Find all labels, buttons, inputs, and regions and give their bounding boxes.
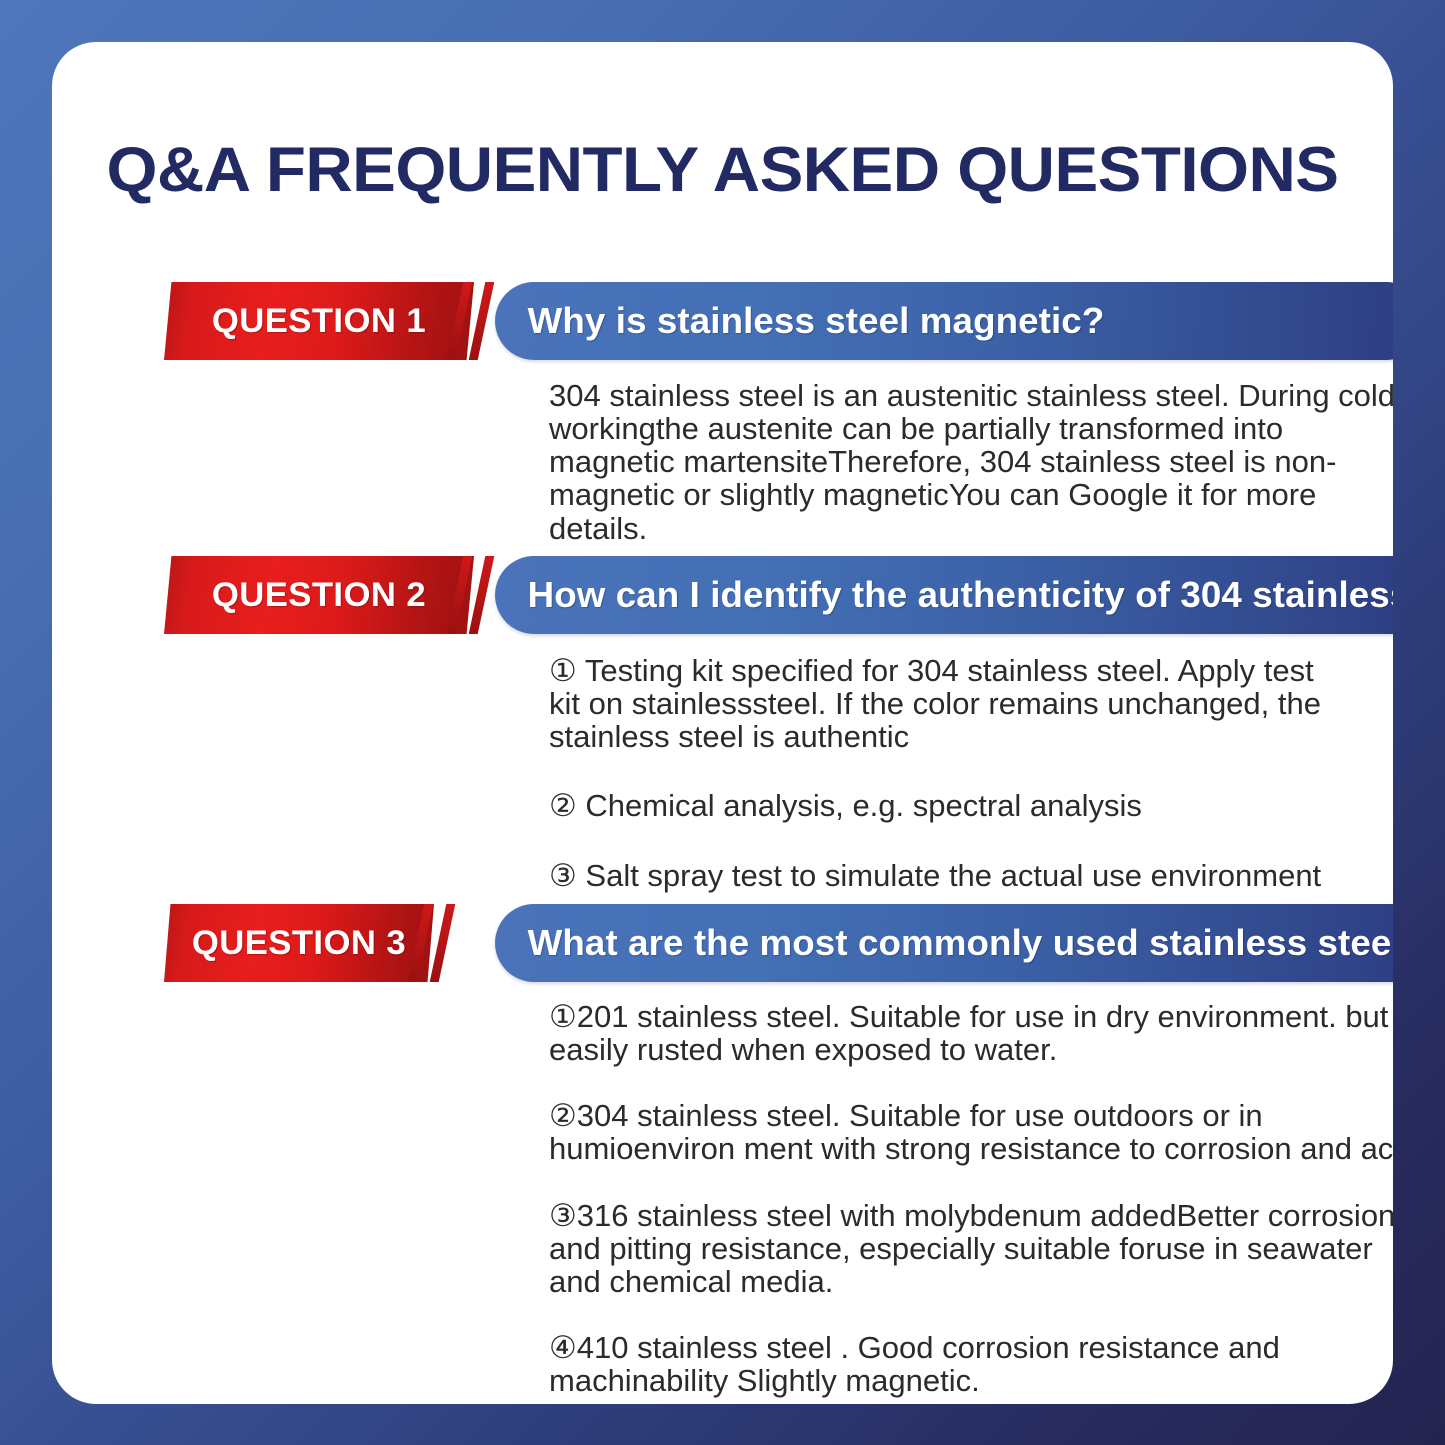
- answer-paragraph: 304 stainless steel is an austenitic sta…: [549, 379, 1393, 545]
- question-pill-2[interactable]: How can I identify the authenticity of 3…: [495, 556, 1393, 634]
- slash-stripe-icon: [430, 904, 456, 982]
- page-title: Q&A FREQUENTLY ASKED QUESTIONS: [52, 134, 1393, 206]
- slash-stripe-icon: [469, 282, 495, 360]
- question-tag-label-1: QUESTION 1: [212, 302, 426, 341]
- question-tag-1[interactable]: QUESTION 1: [164, 282, 474, 360]
- answer-block-1: 304 stainless steel is an austenitic sta…: [549, 379, 1393, 545]
- answer-paragraph: ①201 stainless steel. Suitable for use i…: [549, 1000, 1393, 1066]
- faq-banner-1: QUESTION 1 Why is stainless steel magnet…: [52, 282, 1393, 360]
- answer-paragraph: ②304 stainless steel. Suitable for use o…: [549, 1099, 1393, 1165]
- question-tag-label-3: QUESTION 3: [192, 924, 406, 963]
- question-pill-3[interactable]: What are the most commonly used stainles…: [495, 904, 1393, 982]
- answer-paragraph: ③316 stainless steel with molybdenum add…: [549, 1199, 1393, 1298]
- question-pill-1[interactable]: Why is stainless steel magnetic?: [495, 282, 1393, 360]
- question-text-1: Why is stainless steel magnetic?: [495, 300, 1104, 342]
- faq-item-3: QUESTION 3 What are the most commonly us…: [52, 904, 1393, 982]
- question-tag-label-2: QUESTION 2: [212, 576, 426, 615]
- slash-stripe-icon: [447, 556, 473, 634]
- slash-divider-3: [408, 904, 464, 982]
- answer-paragraph: ④410 stainless steel . Good corrosion re…: [549, 1331, 1393, 1397]
- slash-stripe-icon: [469, 556, 495, 634]
- answer-block-3: ①201 stainless steel. Suitable for use i…: [549, 1000, 1393, 1397]
- faq-item-2: QUESTION 2 How can I identify the authen…: [52, 556, 1393, 634]
- question-tag-2[interactable]: QUESTION 2: [164, 556, 474, 634]
- faq-banner-2: QUESTION 2 How can I identify the authen…: [52, 556, 1393, 634]
- question-tag-3[interactable]: QUESTION 3: [164, 904, 434, 982]
- slash-stripe-icon: [447, 282, 473, 360]
- faq-item-1: QUESTION 1 Why is stainless steel magnet…: [52, 282, 1393, 360]
- page-frame: Q&A FREQUENTLY ASKED QUESTIONS QUESTION …: [0, 0, 1445, 1445]
- question-text-2: How can I identify the authenticity of 3…: [495, 574, 1393, 616]
- faq-card: Q&A FREQUENTLY ASKED QUESTIONS QUESTION …: [52, 42, 1393, 1404]
- slash-stripe-icon: [408, 904, 434, 982]
- answer-paragraph: ② Chemical analysis, e.g. spectral analy…: [549, 789, 1339, 822]
- faq-banner-3: QUESTION 3 What are the most commonly us…: [52, 904, 1393, 982]
- answer-block-2: ① Testing kit specified for 304 stainles…: [549, 654, 1339, 892]
- answer-paragraph: ① Testing kit specified for 304 stainles…: [549, 654, 1339, 753]
- answer-paragraph: ③ Salt spray test to simulate the actual…: [549, 859, 1339, 892]
- question-text-3: What are the most commonly used stainles…: [495, 922, 1393, 964]
